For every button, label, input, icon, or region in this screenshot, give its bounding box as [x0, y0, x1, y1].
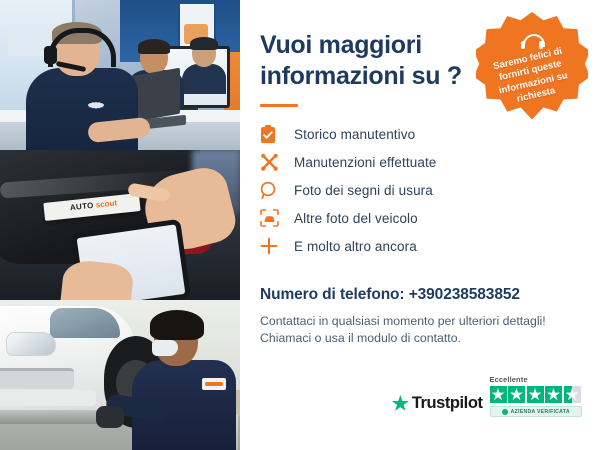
verified-business-badge: AZIENDA VERIFICATA	[490, 406, 583, 417]
list-item-label: Foto dei segni di usura	[294, 183, 433, 198]
sticker-text-primary: AUTO	[69, 201, 94, 212]
background-agent-2	[182, 40, 226, 92]
photo-column: AUTO scout	[0, 0, 240, 450]
advertisement-banner: AUTO scout	[0, 0, 600, 450]
magnifier-icon	[260, 181, 282, 201]
headset-icon	[521, 34, 543, 50]
phone-number[interactable]: Numero di telefono: +390238583852	[260, 286, 578, 304]
sticker-text-secondary: scout	[95, 198, 117, 209]
trustpilot-logo: Trustpilot	[392, 394, 483, 417]
rating-stars	[490, 386, 583, 403]
list-item: Manutenzioni effettuate	[260, 149, 578, 176]
plus-icon	[260, 237, 282, 257]
list-item-label: Storico manutentivo	[294, 127, 415, 142]
mechanic-worker	[132, 314, 236, 450]
star-half-icon	[564, 386, 581, 403]
star-filled-icon	[527, 386, 544, 403]
list-item: Storico manutentivo	[260, 121, 578, 148]
page-title: Vuoi maggiori informazioni su ?	[260, 30, 475, 91]
mechanic-wheel-inspection-photo	[0, 300, 240, 450]
star-filled-icon	[490, 386, 507, 403]
verified-label: AZIENDA VERIFICATA	[511, 409, 570, 415]
list-item-label: Altre foto del veicolo	[294, 211, 418, 226]
car-scan-frame-icon	[260, 209, 282, 229]
trustpilot-star-icon	[392, 395, 409, 412]
content-panel: Vuoi maggiori informazioni su ? Saremo f…	[240, 0, 600, 450]
vehicle-label-tablet-photo: AUTO scout	[0, 150, 240, 300]
clipboard-check-icon	[260, 125, 282, 145]
contact-line-2: Chiamaci o usa il modulo di contatto.	[260, 330, 578, 347]
star-filled-icon	[508, 386, 525, 403]
list-item: Altre foto del veicolo	[260, 205, 578, 232]
contact-text: Contattaci in qualsiasi momento per ulte…	[260, 313, 578, 348]
call-center-agents-photo	[0, 0, 240, 150]
list-item: E molto altro ancora	[260, 233, 578, 260]
info-on-request-badge: Saremo felici di fornirti queste informa…	[476, 12, 588, 124]
list-item-label: Manutenzioni effettuate	[294, 155, 436, 170]
feature-list: Storico manutentivo Manutenzioni effettu…	[260, 121, 578, 260]
title-divider	[260, 104, 298, 107]
star-filled-icon	[545, 386, 562, 403]
tools-cross-icon	[260, 153, 282, 173]
trustpilot-rating: Eccellente AZIENDA VERIFICATA	[490, 375, 583, 417]
rating-label: Eccellente	[490, 375, 528, 384]
badge-text: Saremo felici di fornirti queste informa…	[483, 43, 582, 111]
trustpilot-widget[interactable]: Trustpilot Eccellente AZIENDA VERIFICATA	[392, 375, 582, 417]
check-circle-icon	[502, 409, 508, 415]
list-item: Foto dei segni di usura	[260, 177, 578, 204]
trustpilot-wordmark: Trustpilot	[412, 394, 483, 413]
contact-line-1: Contattaci in qualsiasi momento per ulte…	[260, 313, 578, 330]
foreground-agent-with-headset	[26, 24, 138, 150]
list-item-label: E molto altro ancora	[294, 239, 417, 254]
